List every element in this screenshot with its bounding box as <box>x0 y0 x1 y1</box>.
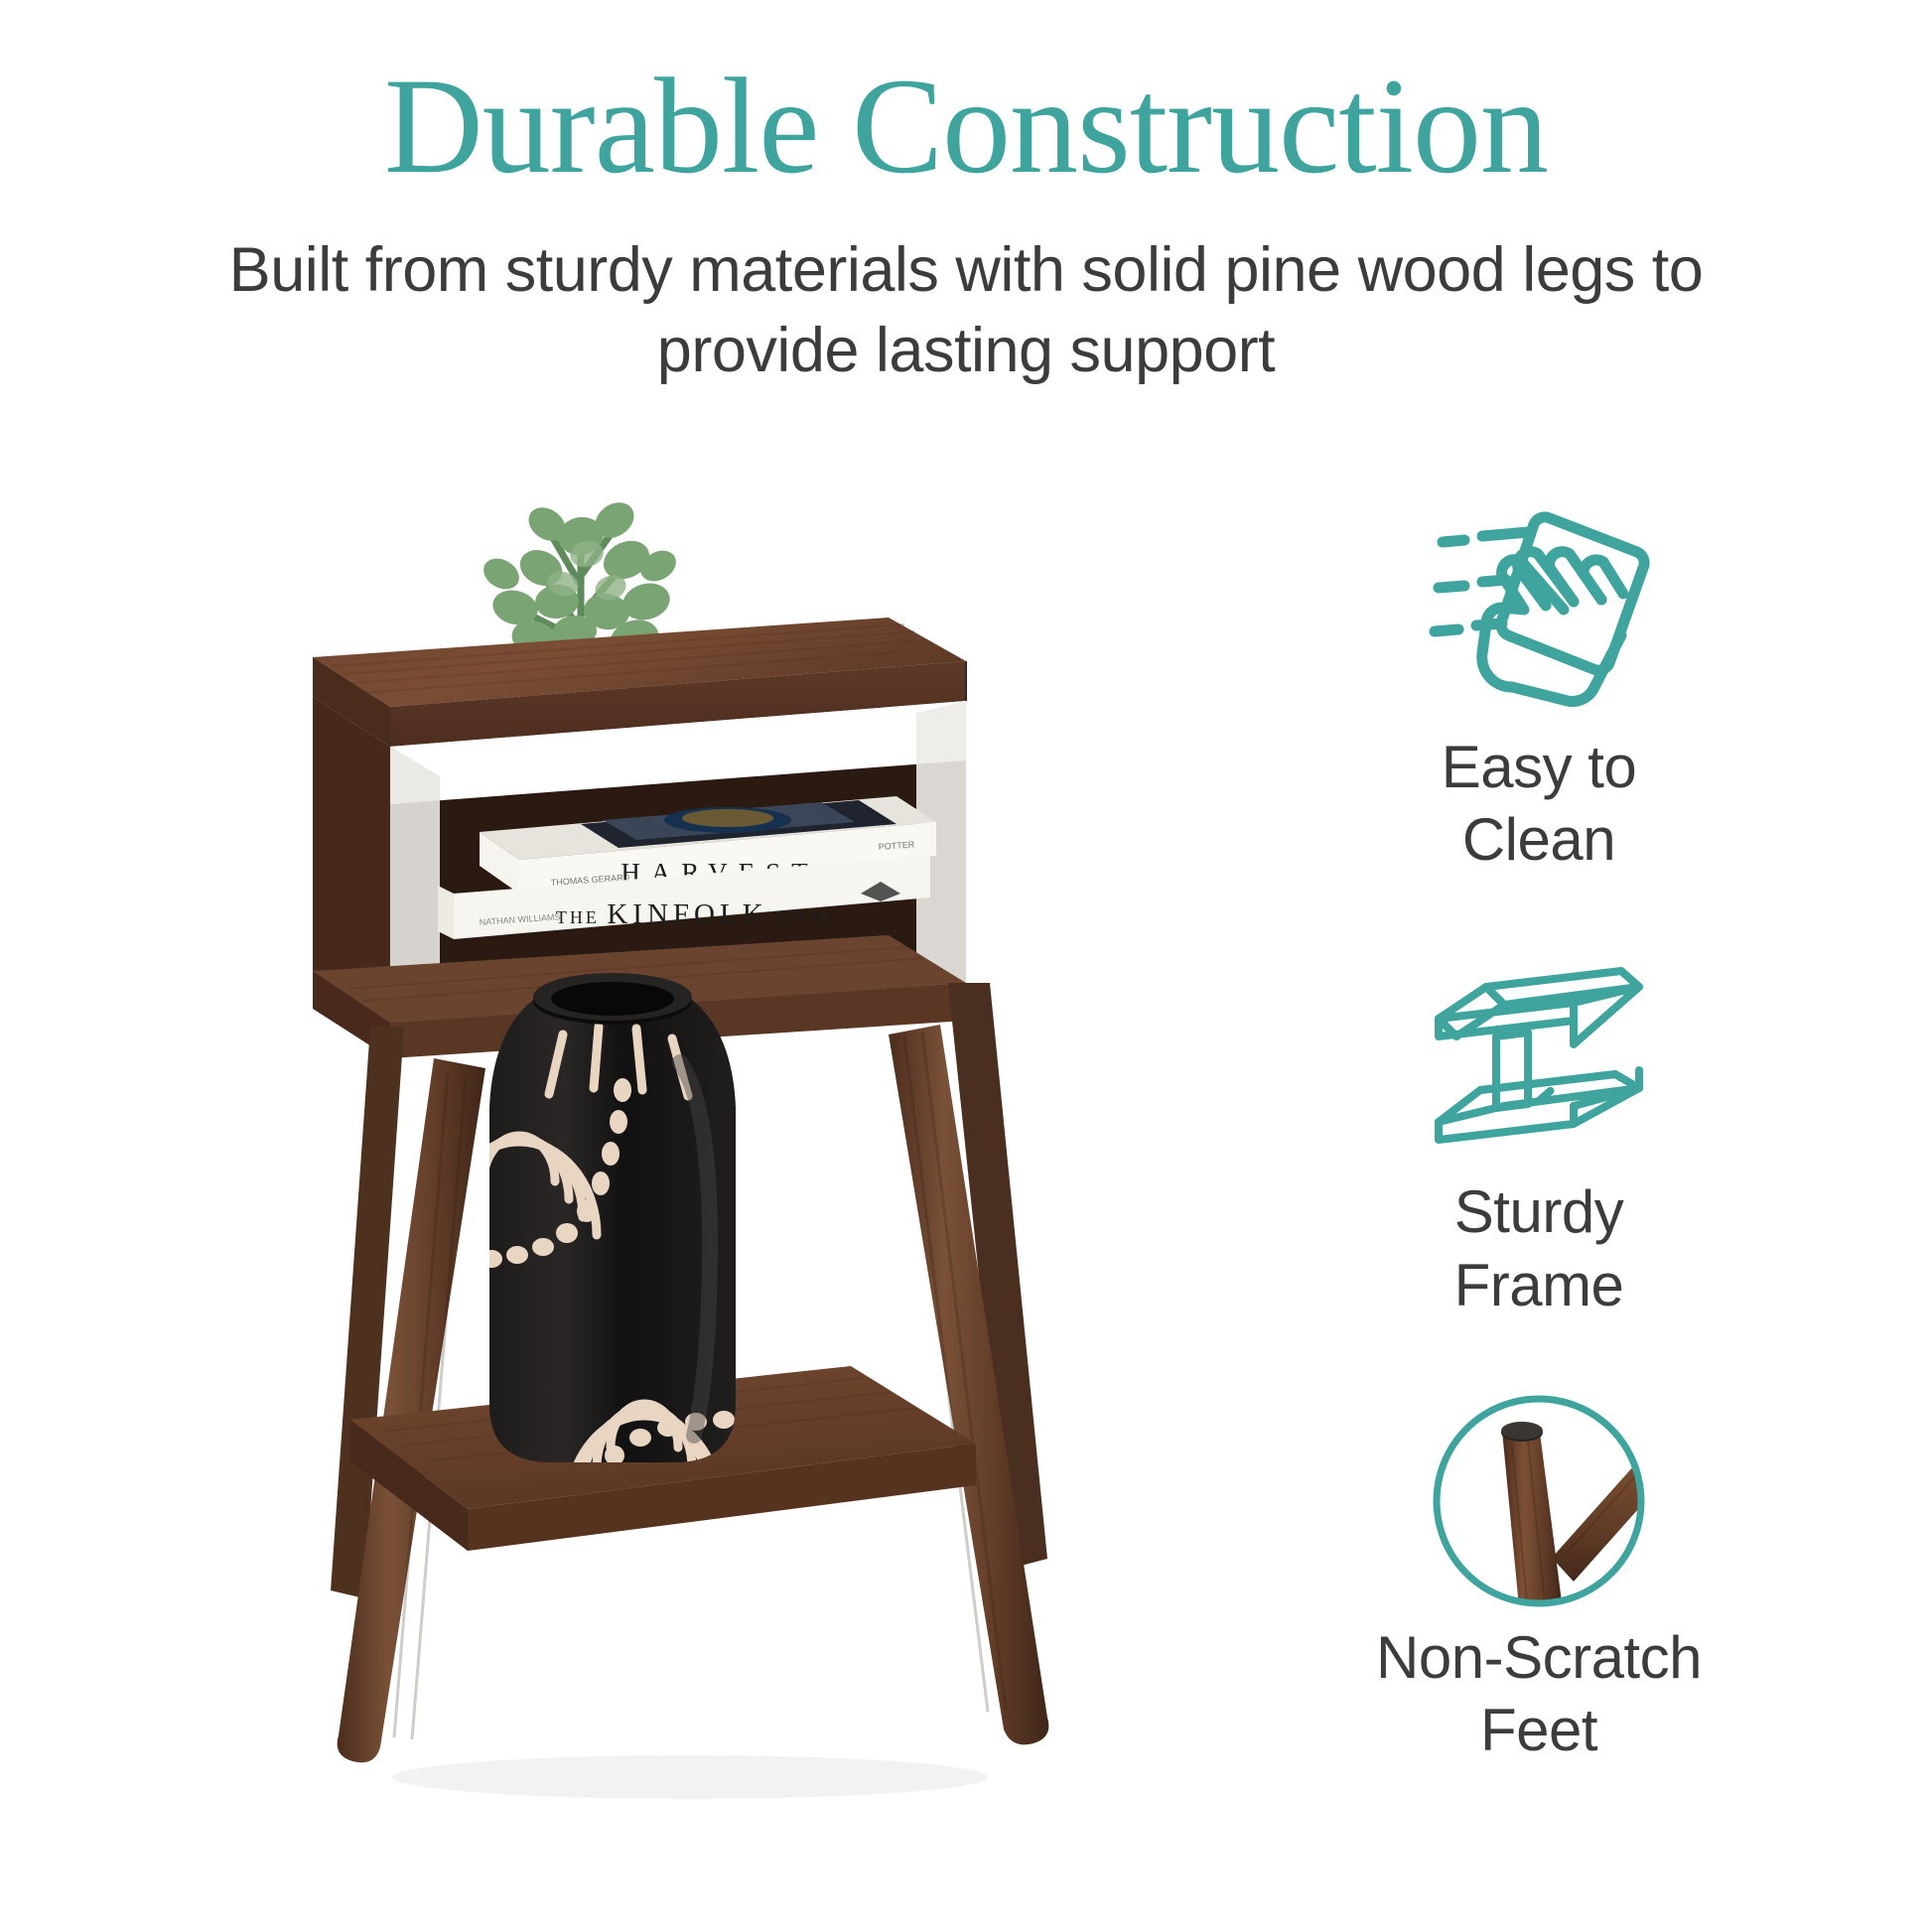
feature-easy-to-clean: Easy to Clean <box>1320 496 1757 876</box>
wood-leg-foot-cap-photo-icon <box>1425 1387 1653 1615</box>
feature-label: Non-Scratch Feet <box>1376 1621 1702 1766</box>
product-feature-slide: Durable Construction Built from sturdy m… <box>0 0 1932 1932</box>
header: Durable Construction Built from sturdy m… <box>0 58 1932 390</box>
feature-non-scratch-feet: Non-Scratch Feet <box>1320 1387 1757 1766</box>
feature-list: Easy to Clean <box>1320 496 1757 1766</box>
feature-label: Sturdy Frame <box>1454 1175 1624 1320</box>
product-image: HARVEST THOMAS GERARD POTTER THE KINFOLK… <box>253 427 1276 1866</box>
page-subtitle: Built from sturdy materials with solid p… <box>192 230 1740 390</box>
feature-label: Easy to Clean <box>1442 731 1637 876</box>
hand-wiping-cloth-icon <box>1425 496 1653 725</box>
i-beam-icon <box>1425 941 1653 1170</box>
page-title: Durable Construction <box>0 58 1932 195</box>
feature-sturdy-frame: Sturdy Frame <box>1320 941 1757 1320</box>
